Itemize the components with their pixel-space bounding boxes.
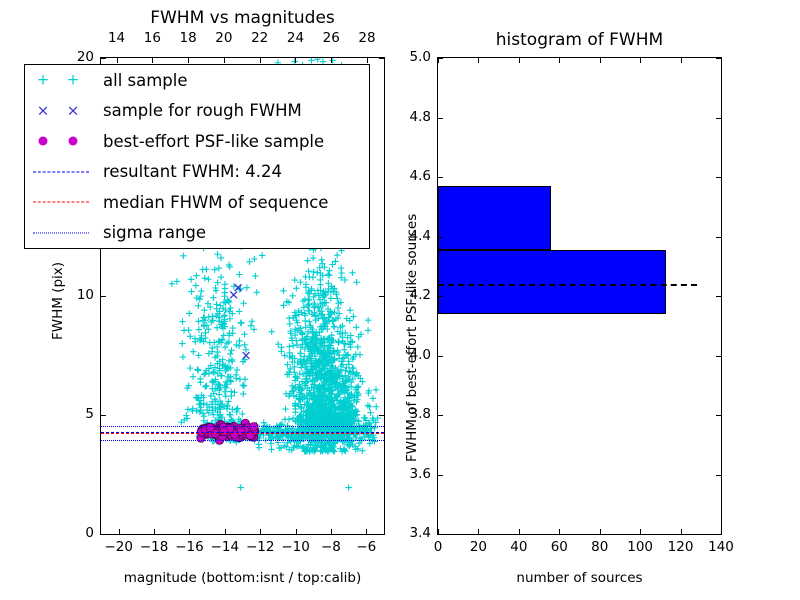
axis-tick (101, 534, 106, 535)
right-x-tick-label: 80 (583, 539, 617, 555)
axis-tick (367, 58, 368, 63)
axis-tick (716, 415, 721, 416)
axis-tick (716, 118, 721, 119)
left-top-tick-label: 26 (320, 30, 342, 46)
legend-item[interactable]: resultant FWHM: 4.24 (25, 157, 369, 188)
axis-tick (716, 177, 721, 178)
axis-tick (295, 58, 296, 63)
axis-tick (101, 58, 106, 59)
axis-tick (438, 356, 443, 357)
figure-canvas: FWHM vs magnitudes 1416182022242628 −20−… (0, 0, 800, 600)
legend-key-dashdot-line (25, 218, 103, 248)
legend-key-cross-marker: ×× (25, 96, 103, 126)
axis-tick (716, 237, 721, 238)
axis-tick (640, 529, 641, 534)
axis-tick (716, 475, 721, 476)
right-ylabel: FWHM of best-effort PSF-like sources (404, 214, 420, 462)
axis-tick (721, 58, 722, 63)
axis-tick (681, 58, 682, 63)
axis-tick (438, 534, 443, 535)
axis-tick (438, 118, 443, 119)
dashed-line-icon (33, 202, 89, 203)
dashdot-line-icon (33, 232, 89, 233)
axis-tick (438, 475, 443, 476)
right-x-tick-label: 100 (623, 539, 657, 555)
right-x-tick-label: 40 (502, 539, 536, 555)
axis-tick (716, 58, 721, 59)
axis-tick (716, 356, 721, 357)
axis-tick (101, 415, 106, 416)
axis-tick (152, 58, 153, 63)
legend-item-label: sigma range (103, 223, 206, 242)
left-y-tick-label: 0 (60, 525, 94, 541)
histogram-bar[interactable] (438, 186, 551, 250)
axis-tick (117, 58, 118, 63)
right-x-tick-label: 60 (542, 539, 576, 555)
axis-tick (478, 529, 479, 534)
axis-tick (438, 296, 443, 297)
histogram-median-line (438, 284, 697, 286)
left-y-tick-label: 5 (60, 406, 94, 422)
axis-tick (154, 529, 155, 534)
axis-tick (189, 529, 190, 534)
axis-tick (438, 58, 443, 59)
legend-box: ++all sample××sample for rough FWHMbest-… (24, 64, 370, 249)
axis-tick (224, 58, 225, 63)
right-y-tick-label: 4.8 (393, 109, 431, 125)
axis-tick (681, 529, 682, 534)
left-bottom-tick-label: −12 (243, 539, 277, 555)
legend-item[interactable]: sigma range (25, 218, 369, 249)
right-y-tick-label: 5.0 (393, 49, 431, 65)
axis-tick (559, 529, 560, 534)
plus-icon: + (67, 73, 80, 88)
left-bottom-tick-label: −8 (314, 539, 348, 555)
legend-item[interactable]: best-effort PSF-like sample (25, 126, 369, 157)
axis-tick (379, 296, 384, 297)
right-xlabel: number of sources (437, 570, 722, 586)
axis-tick (716, 534, 721, 535)
axis-tick (366, 529, 367, 534)
axis-tick (519, 58, 520, 63)
left-top-tick-label: 14 (106, 30, 128, 46)
left-top-tick-label: 16 (141, 30, 163, 46)
left-top-tick-label: 20 (213, 30, 235, 46)
left-bottom-tick-label: −16 (172, 539, 206, 555)
left-top-tick-label: 18 (177, 30, 199, 46)
left-top-tick-label: 22 (249, 30, 271, 46)
legend-item-label: all sample (103, 71, 188, 90)
axis-tick (438, 415, 443, 416)
legend-item[interactable]: ++all sample (25, 65, 369, 96)
axis-tick (331, 58, 332, 63)
left-y-tick-label: 20 (60, 49, 94, 65)
left-bottom-tick-label: −14 (208, 539, 242, 555)
axis-tick (716, 296, 721, 297)
axis-tick (188, 58, 189, 63)
axis-tick (101, 296, 106, 297)
histogram-bar[interactable] (438, 250, 666, 314)
legend-key-circle-marker (25, 126, 103, 156)
legend-item-label: resultant FWHM: 4.24 (103, 162, 282, 181)
sigma-lower-line (101, 440, 384, 441)
legend-key-plus-marker: ++ (25, 65, 103, 95)
right-plot-title: histogram of FWHM (437, 30, 722, 50)
right-y-tick-label: 3.6 (393, 466, 431, 482)
legend-key-dashed-line (25, 187, 103, 217)
plus-icon: + (37, 73, 50, 88)
right-y-tick-label: 3.4 (393, 525, 431, 541)
axis-tick (119, 529, 120, 534)
axis-tick (379, 415, 384, 416)
axis-tick (260, 529, 261, 534)
legend-item-label: sample for rough FWHM (103, 101, 302, 120)
right-plot-axes[interactable] (437, 57, 722, 535)
left-bottom-tick-label: −20 (102, 539, 136, 555)
axis-tick (225, 529, 226, 534)
left-plot-title: FWHM vs magnitudes (100, 8, 385, 28)
left-bottom-tick-label: −6 (349, 539, 383, 555)
right-x-tick-label: 20 (461, 539, 495, 555)
sigma-upper-line (101, 426, 384, 427)
cross-icon: × (37, 103, 50, 118)
right-x-tick-label: 0 (421, 539, 455, 555)
axis-tick (600, 529, 601, 534)
axis-tick (640, 58, 641, 63)
left-bottom-tick-label: −10 (279, 539, 313, 555)
axis-tick (600, 58, 601, 63)
right-y-tick-label: 4.6 (393, 168, 431, 184)
legend-item-label: median FHWM of sequence (103, 193, 328, 212)
cross-icon: × (67, 103, 80, 118)
right-x-tick-label: 120 (664, 539, 698, 555)
axis-tick (331, 529, 332, 534)
axis-tick (721, 529, 722, 534)
axis-tick (438, 237, 443, 238)
axis-tick (519, 529, 520, 534)
circle-icon (39, 137, 48, 146)
left-top-tick-label: 24 (284, 30, 306, 46)
left-xlabel: magnitude (bottom:isnt / top:calib) (100, 570, 385, 586)
left-bottom-tick-label: −18 (137, 539, 171, 555)
dashed-line-icon (33, 171, 89, 172)
axis-tick (296, 529, 297, 534)
axis-tick (379, 58, 384, 59)
histogram-plot-area (438, 58, 721, 534)
axis-tick (260, 58, 261, 63)
legend-item[interactable]: median FHWM of sequence (25, 187, 369, 218)
legend-key-dashed-line (25, 157, 103, 187)
left-top-tick-label: 28 (356, 30, 378, 46)
right-x-tick-label: 140 (704, 539, 738, 555)
median-fhwm-line (101, 433, 384, 434)
left-ylabel: FWHM (pix) (50, 262, 66, 340)
circle-icon (69, 137, 78, 146)
axis-tick (438, 177, 443, 178)
legend-item-label: best-effort PSF-like sample (103, 132, 324, 151)
axis-tick (379, 534, 384, 535)
axis-tick (559, 58, 560, 63)
legend-item[interactable]: ××sample for rough FWHM (25, 96, 369, 127)
axis-tick (478, 58, 479, 63)
